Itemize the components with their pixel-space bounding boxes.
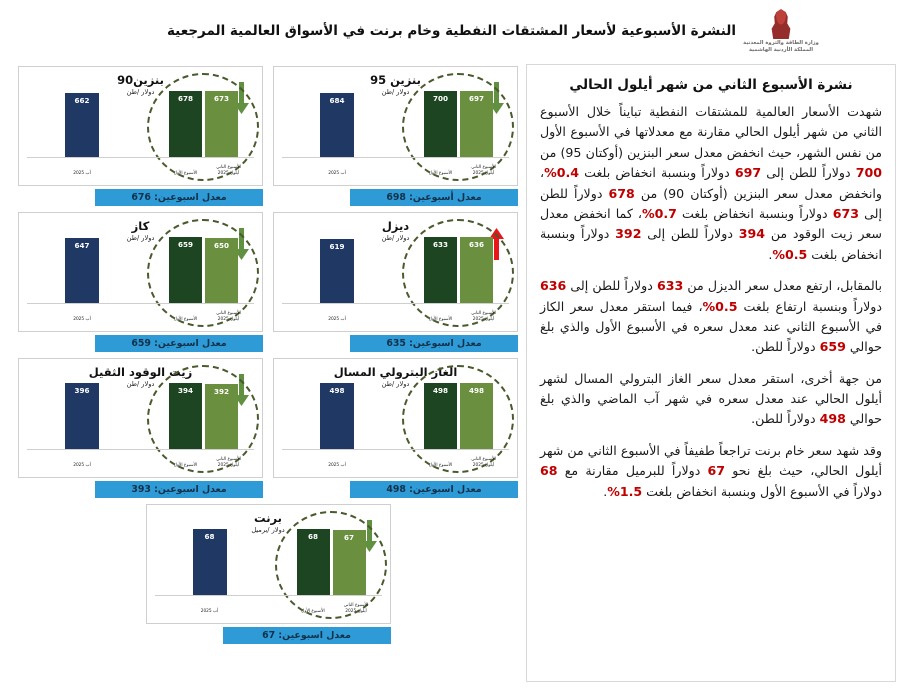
average-banner-benzine-90: معدل اسبوعين: 676 [95, 189, 263, 206]
tick-week-two: الأسبوع الثانيأيلول 2025 [452, 165, 515, 177]
tick-previous-month: أب 2025 [310, 171, 364, 177]
axis-line [27, 449, 254, 450]
bar-week-two: 498 [460, 383, 493, 449]
axis-line [155, 595, 382, 596]
highlighted-number: 0.7% [642, 206, 677, 221]
bar-week-two: 650 [205, 238, 238, 303]
average-banner-kerosene: معدل اسبوعين: 659 [95, 335, 263, 352]
plot-diesel: 619633636أب 2025الأسبوع الأولالأسبوع الث… [274, 213, 517, 331]
axis-line [282, 303, 509, 304]
bar-week-two: 67 [333, 530, 366, 595]
jordan-coat-of-arms-icon: وزارة الطاقة والثروة المعدنية المملكة ال… [744, 4, 818, 58]
paragraph-p2: بالمقابل، ارتفع معدل سعر الديزل من 633 د… [540, 276, 882, 358]
emblem-line-2: المملكة الأردنية الهاشمية [749, 47, 813, 54]
tick-previous-month: أب 2025 [55, 463, 109, 469]
highlighted-number: 659 [820, 339, 846, 354]
axis-line [282, 449, 509, 450]
bulletin-page: وزارة الطاقة والثروة المعدنية المملكة ال… [0, 0, 914, 700]
bar-previous-month: 498 [320, 383, 354, 449]
tick-week-two: الأسبوع الثانيأيلول 2025 [452, 311, 515, 323]
highlighted-number: 498 [820, 411, 846, 426]
bar-week-two: 392 [205, 384, 238, 449]
average-banner-diesel: معدل اسبوعين: 635 [350, 335, 518, 352]
chart-panel-diesel: ديزلدولار /طن619633636أب 2025الأسبوع الأ… [273, 212, 518, 352]
highlighted-number: 636 [540, 278, 566, 293]
bar-previous-month: 619 [320, 239, 354, 303]
highlighted-number: 700 [856, 165, 882, 180]
plot-brent: 686867أب 2025الأسبوع الأولالأسبوع الثاني… [147, 505, 390, 623]
bar-previous-month: 396 [65, 383, 99, 449]
average-banner-heavy-fuel-oil: معدل اسبوعين: 393 [95, 481, 263, 498]
panel-row: بنزين90دولار /طن662678673أب 2025الأسبوع … [18, 66, 518, 212]
highlighted-number: 0.4% [544, 165, 579, 180]
panel-row: كازدولار /طن647659650أب 2025الأسبوع الأو… [18, 212, 518, 358]
tick-week-two: الأسبوع الثانيأيلول 2025 [452, 457, 515, 469]
bulletin-title: نشرة الأسبوع الثاني من شهر أيلول الحالي [540, 77, 882, 93]
bar-previous-month: 662 [65, 93, 99, 157]
chart-area-diesel: ديزلدولار /طن619633636أب 2025الأسبوع الأ… [273, 212, 518, 332]
chart-panel-heavy-fuel-oil: زيت الوقود الثقيلدولار /طن396394392أب 20… [18, 358, 263, 498]
chart-area-benzine-90: بنزين90دولار /طن662678673أب 2025الأسبوع … [18, 66, 263, 186]
bar-previous-month: 684 [320, 93, 354, 157]
highlighted-number: 0.5% [772, 247, 807, 262]
tick-previous-month: أب 2025 [55, 171, 109, 177]
chart-panel-brent: برنتدولار /برميل686867أب 2025الأسبوع الأ… [146, 504, 391, 644]
bulletin-text-panel: نشرة الأسبوع الثاني من شهر أيلول الحالي … [526, 64, 896, 682]
highlighted-number: 67 [708, 463, 726, 478]
chart-panel-benzine-90: بنزين90دولار /طن662678673أب 2025الأسبوع … [18, 66, 263, 206]
paragraph-p1: شهدت الأسعار العالمية للمشتقات النفطية ت… [540, 102, 882, 265]
crown-shape [768, 9, 794, 39]
bar-week-one: 633 [424, 237, 457, 303]
axis-line [27, 303, 254, 304]
bar-previous-month: 647 [65, 238, 99, 303]
bar-week-one: 659 [169, 237, 202, 303]
charts-grid: بنزين90دولار /طن662678673أب 2025الأسبوع … [18, 66, 518, 690]
chart-area-brent: برنتدولار /برميل686867أب 2025الأسبوع الأ… [146, 504, 391, 624]
paragraph-p3: من جهة أخرى، استقر معدل سعر الغاز البترو… [540, 369, 882, 430]
bar-previous-month: 68 [193, 529, 227, 595]
highlighted-number: 697 [735, 165, 761, 180]
axis-line [27, 157, 254, 158]
average-banner-brent: معدل اسبوعين: 67 [223, 627, 391, 644]
panel-row: زيت الوقود الثقيلدولار /طن396394392أب 20… [18, 358, 518, 504]
highlighted-number: 0.5% [703, 299, 738, 314]
highlighted-number: 633 [657, 278, 683, 293]
tick-week-two: الأسبوع الثانيأيلول 2025 [197, 457, 260, 469]
plot-lpg: 498498498أب 2025الأسبوع الأولالأسبوع الث… [274, 359, 517, 477]
tick-week-two: الأسبوع الثانيأيلول 2025 [325, 603, 388, 615]
bar-week-two: 673 [205, 91, 238, 157]
bulletin-paragraphs: شهدت الأسعار العالمية للمشتقات النفطية ت… [540, 102, 882, 502]
bar-week-one: 68 [297, 529, 330, 595]
highlighted-number: 392 [615, 226, 641, 241]
highlighted-number: 678 [609, 186, 635, 201]
page-header: وزارة الطاقة والثروة المعدنية المملكة ال… [0, 0, 914, 62]
bar-week-one: 394 [169, 383, 202, 449]
chart-panel-benzine-95: بنزين 95دولار /طن684700697أب 2025الأسبوع… [273, 66, 518, 206]
tick-previous-month: أب 2025 [310, 463, 364, 469]
bar-week-one: 700 [424, 91, 457, 157]
highlighted-number: 673 [833, 206, 859, 221]
plot-benzine-95: 684700697أب 2025الأسبوع الأولالأسبوع الث… [274, 67, 517, 185]
average-banner-lpg: معدل اسبوعين: 498 [350, 481, 518, 498]
bar-week-one: 678 [169, 91, 202, 157]
tick-previous-month: أب 2025 [55, 317, 109, 323]
plot-benzine-90: 662678673أب 2025الأسبوع الأولالأسبوع الث… [19, 67, 262, 185]
tick-week-two: الأسبوع الثانيأيلول 2025 [197, 165, 260, 177]
average-banner-benzine-95: معدل أسبوعين: 698 [350, 189, 518, 206]
chart-panel-lpg: الغاز البترولي المسالدولار /طن498498498أ… [273, 358, 518, 498]
highlighted-number: 1.5% [607, 484, 642, 499]
tick-week-two: الأسبوع الثانيأيلول 2025 [197, 311, 260, 323]
chart-area-kerosene: كازدولار /طن647659650أب 2025الأسبوع الأو… [18, 212, 263, 332]
highlighted-number: 394 [739, 226, 765, 241]
chart-area-heavy-fuel-oil: زيت الوقود الثقيلدولار /طن396394392أب 20… [18, 358, 263, 478]
paragraph-p4: وقد شهد سعر خام برنت تراجعاً طفيفاً في ا… [540, 441, 882, 502]
plot-kerosene: 647659650أب 2025الأسبوع الأولالأسبوع الث… [19, 213, 262, 331]
chart-panel-kerosene: كازدولار /طن647659650أب 2025الأسبوع الأو… [18, 212, 263, 352]
bar-week-one: 498 [424, 383, 457, 449]
plot-heavy-fuel-oil: 396394392أب 2025الأسبوع الأولالأسبوع الث… [19, 359, 262, 477]
chart-area-benzine-95: بنزين 95دولار /طن684700697أب 2025الأسبوع… [273, 66, 518, 186]
page-title: النشرة الأسبوعية لأسعار المشتقات النفطية… [167, 23, 736, 39]
bar-week-two: 697 [460, 91, 493, 157]
panel-row: برنتدولار /برميل686867أب 2025الأسبوع الأ… [18, 504, 518, 644]
highlighted-number: 68 [540, 463, 558, 478]
chart-area-lpg: الغاز البترولي المسالدولار /طن498498498أ… [273, 358, 518, 478]
tick-previous-month: أب 2025 [183, 609, 237, 615]
tick-previous-month: أب 2025 [310, 317, 364, 323]
axis-line [282, 157, 509, 158]
bar-week-two: 636 [460, 237, 493, 303]
